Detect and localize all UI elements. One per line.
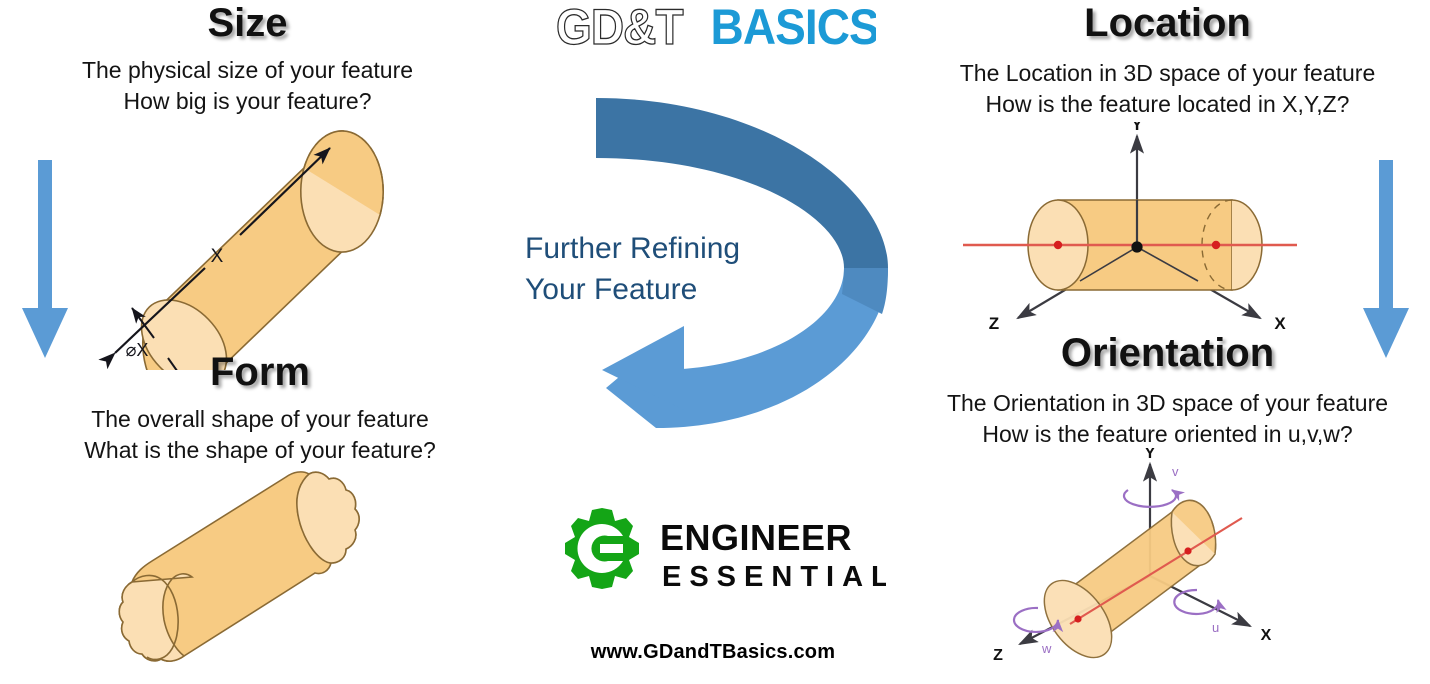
location-description-line-1: The Location in 3D space of your feature [905, 58, 1430, 89]
website-url: www.GDandTBasics.com [0, 641, 1430, 664]
essentials-text: ESSENTIALS [662, 561, 886, 593]
rotation-arrow-v: v [1124, 464, 1179, 507]
location-title: Location [905, 3, 1430, 43]
gdt-basics-logo-svg: GD&T BASICS [556, 2, 876, 54]
form-title: Form [0, 352, 520, 392]
size-cylinder-svg: X ⌀X [80, 110, 420, 370]
rotation-label-v: v [1172, 464, 1179, 479]
orientation-description: The Orientation in 3D space of your feat… [905, 388, 1430, 450]
refining-caption: Further Refining Your Feature [525, 228, 815, 311]
location-axes-svg: Y Z X [960, 122, 1300, 340]
orientation-description-line-2: How is the feature oriented in u,v,w? [905, 419, 1430, 450]
size-description: The physical size of your feature How bi… [0, 55, 495, 117]
engineer-essentials-logo-svg: ENGINEER ESSENTIALS [556, 506, 886, 598]
gdt-basics-logo: GD&T BASICS [556, 2, 876, 54]
orientation-title: Orientation [905, 333, 1430, 373]
location-axes-figure: Y Z X [960, 122, 1300, 340]
location-description: The Location in 3D space of your feature… [905, 58, 1430, 120]
axis-label-y: Y [1145, 448, 1156, 462]
axis-label-x: X [1274, 314, 1286, 333]
orientation-description-line-1: The Orientation in 3D space of your feat… [905, 388, 1430, 419]
website-url-text: www.GDandTBasics.com [591, 641, 835, 664]
axis-label-y: Y [1131, 122, 1143, 134]
rotation-arrow-u: u [1174, 590, 1219, 635]
cylinder-solid [125, 131, 383, 370]
logo-basics-text: BASICS [711, 2, 876, 54]
location-description-line-2: How is the feature located in X,Y,Z? [905, 89, 1430, 120]
right-flow-down-arrow-svg [1355, 160, 1417, 360]
left-flow-down-arrow-svg [14, 160, 76, 360]
left-flow-down-arrow [14, 160, 76, 360]
axis-label-z: Z [989, 314, 999, 333]
refining-caption-line-2: Your Feature [525, 269, 815, 310]
right-flow-down-arrow [1355, 160, 1417, 360]
logo-gdt-text: GD&T [556, 2, 683, 54]
length-dimension-label: X [211, 246, 224, 267]
rotation-label-u: u [1212, 620, 1219, 635]
engineer-text: ENGINEER [660, 517, 852, 558]
size-description-line-1: The physical size of your feature [0, 55, 495, 86]
form-description-line-1: The overall shape of your feature [0, 404, 520, 435]
size-cylinder-figure: X ⌀X [80, 110, 420, 370]
engineer-essentials-logo: ENGINEER ESSENTIALS [556, 506, 886, 598]
form-description: The overall shape of your feature What i… [0, 404, 520, 466]
size-title: Size [0, 3, 495, 43]
gear-icon [565, 508, 639, 589]
refining-caption-line-1: Further Refining [525, 228, 815, 269]
